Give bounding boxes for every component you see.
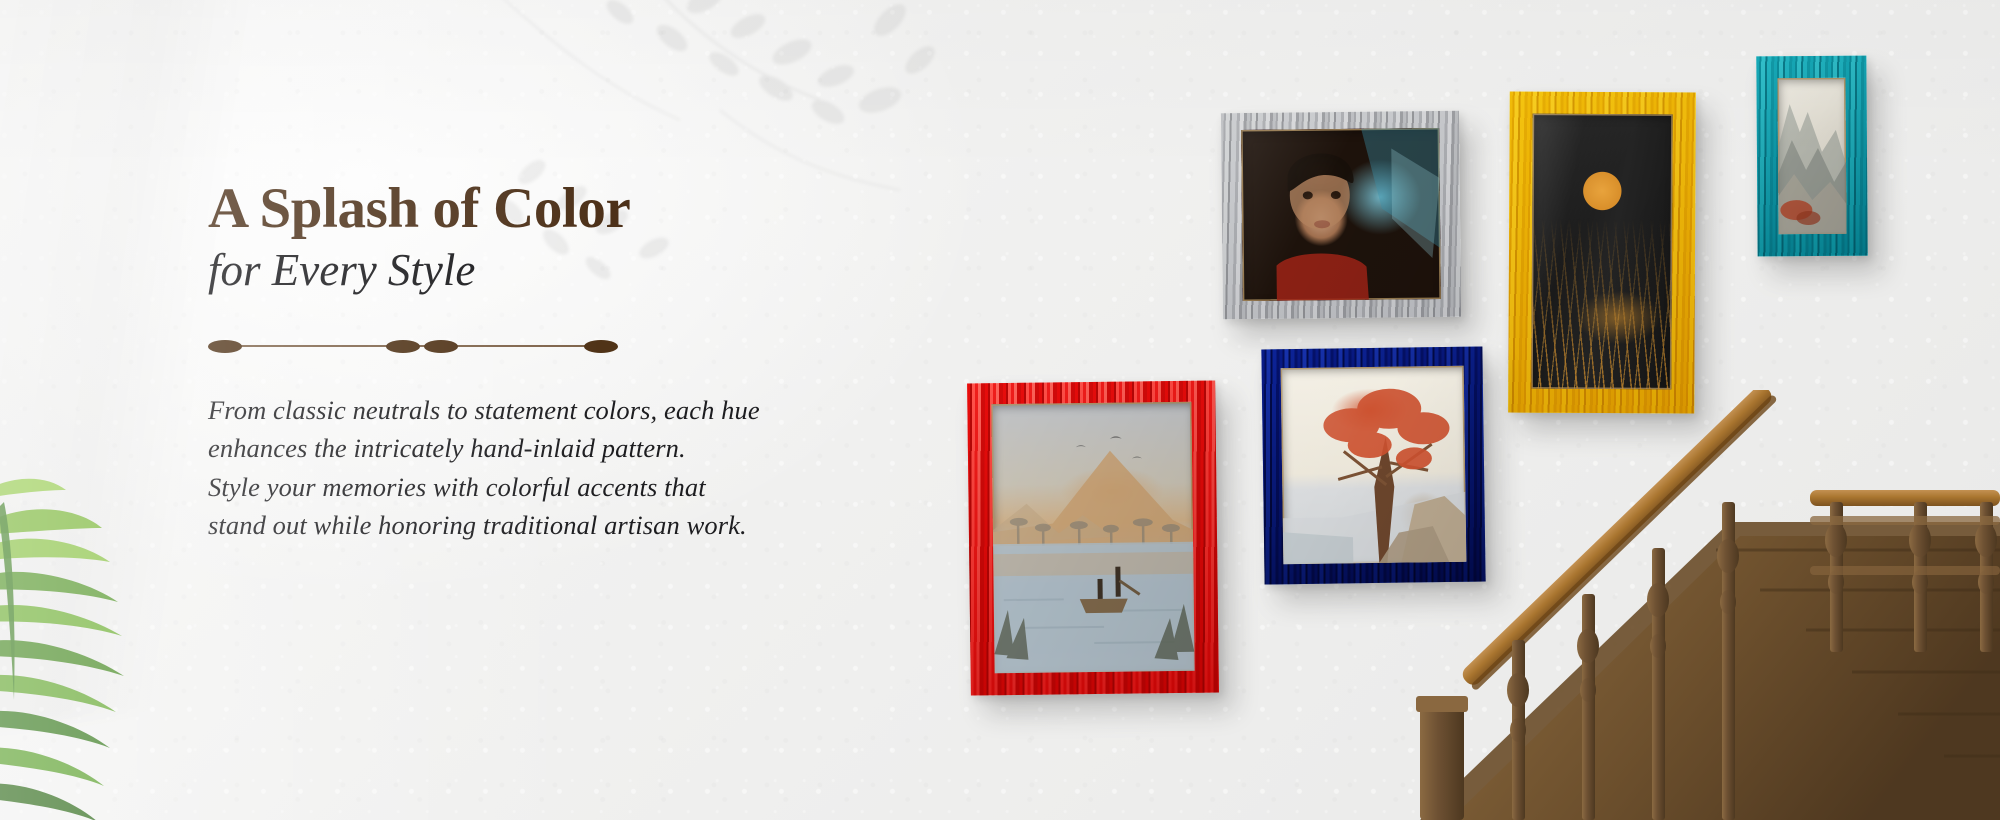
banner-copy: A Splash of Color for Every Style From c…: [208, 180, 928, 544]
description-line: stand out while honoring traditional art…: [208, 506, 928, 544]
description-line: Style your memories with colorful accent…: [208, 468, 928, 506]
page-subtitle: for Every Style: [208, 244, 928, 297]
banner-stage: A Splash of Color for Every Style From c…: [0, 0, 2000, 820]
artwork-golden-moon: [1531, 114, 1672, 390]
framed-artwork-turquoise[interactable]: [1756, 56, 1867, 257]
artwork-boy-portrait: [1241, 128, 1441, 301]
artwork-mountain-landscape: [1777, 78, 1846, 234]
page-title: A Splash of Color: [208, 180, 928, 238]
banner-description: From classic neutrals to statement color…: [208, 391, 928, 544]
wooden-staircase-railing: [1120, 390, 2000, 820]
framed-artwork-grey-wood[interactable]: [1221, 111, 1461, 319]
divider-dot-icon: [208, 340, 242, 353]
artwork-grass-detail: [1531, 218, 1672, 389]
divider-dot-icon: [584, 340, 618, 353]
ornamental-divider: [208, 337, 618, 355]
description-line: enhances the intricately hand-inlaid pat…: [208, 429, 928, 467]
divider-dot-icon: [424, 340, 458, 353]
framed-artwork-yellow[interactable]: [1508, 92, 1696, 414]
description-line: From classic neutrals to statement color…: [208, 391, 928, 429]
divider-dot-icon: [386, 340, 420, 353]
palm-plant-decor: [0, 450, 162, 820]
